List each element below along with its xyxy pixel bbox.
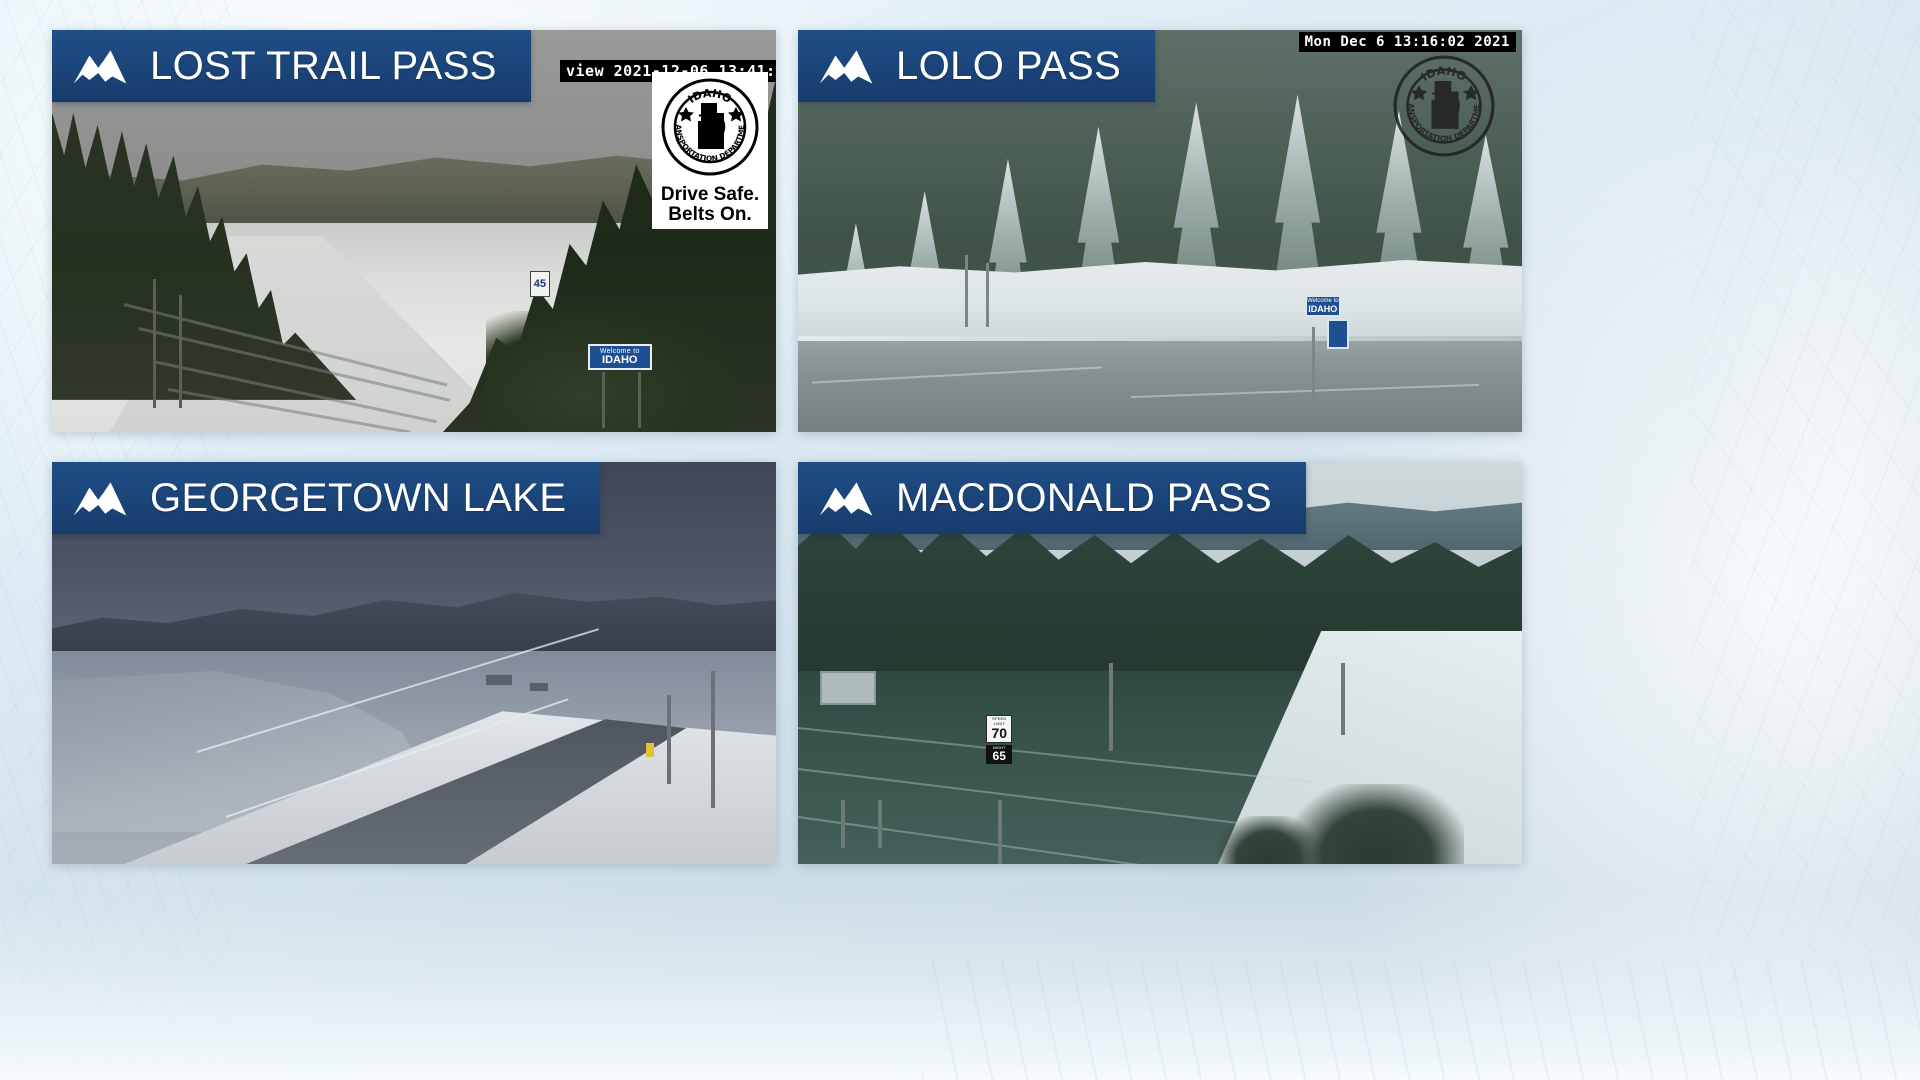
roadside-brush xyxy=(486,311,732,432)
welcome-to-idaho-sign: Welcome to IDAHO xyxy=(588,344,652,370)
speed-limit-value: 45 xyxy=(531,272,549,296)
mountain-icon xyxy=(818,46,874,86)
welcome-sign-line2: IDAHO xyxy=(590,355,650,366)
camera-tile-lolo-pass[interactable]: Welcome to IDAHO Mon Dec 6 13:16:02 2021… xyxy=(798,30,1522,432)
night-speed-panel: NIGHT 65 xyxy=(986,745,1012,764)
welcome-sign-line2: IDAHO xyxy=(1307,305,1339,314)
camera-tile-georgetown-lake[interactable]: GEORGETOWN LAKE xyxy=(52,462,776,864)
roadside-post xyxy=(153,279,156,408)
itd-logo-disc: IDAHO TRANSPORTATION DEPARTMENT D xyxy=(652,72,768,184)
highway-surface xyxy=(798,336,1522,432)
utility-pole xyxy=(667,695,671,783)
roadside-delineator xyxy=(646,743,654,757)
daytime-speed-panel: SPEED LIMIT 70 xyxy=(986,715,1012,743)
speed-limit-sign: SPEED LIMIT 70 NIGHT 65 xyxy=(986,715,1012,764)
welcome-to-idaho-sign: Welcome to IDAHO xyxy=(1305,295,1341,317)
night-speed-value: 65 xyxy=(986,750,1012,762)
camera-title: MACDONALD PASS xyxy=(896,476,1272,521)
roadside-post xyxy=(1341,663,1345,735)
mountain-icon xyxy=(72,478,128,518)
mountain-icon xyxy=(818,478,874,518)
camera-title: LOLO PASS xyxy=(896,44,1121,89)
itd-tagline: Drive Safe. Belts On. xyxy=(652,184,768,229)
svg-text:IDAHO: IDAHO xyxy=(1418,64,1469,84)
itd-tagline-line2: Belts On. xyxy=(652,205,768,225)
itd-tagline-line1: Drive Safe. xyxy=(652,185,768,205)
roadside-post xyxy=(986,263,989,327)
camera-banner-lost-trail-pass[interactable]: LOST TRAIL PASS xyxy=(52,30,531,102)
camera-banner-macdonald-pass[interactable]: MACDONALD PASS xyxy=(798,462,1306,534)
idaho-transportation-department-logo: IDAHO TRANSPORTATION DEPARTMENT D xyxy=(1392,54,1500,163)
itd-seal-icon: IDAHO TRANSPORTATION DEPARTMENT D xyxy=(1392,54,1496,158)
speed-limit-value: 70 xyxy=(987,726,1011,740)
roadside-post xyxy=(179,295,182,408)
camera-tile-lost-trail-pass[interactable]: 45 Welcome to IDAHO view 2021-12-06 13:4… xyxy=(52,30,776,432)
camera-banner-lolo-pass[interactable]: LOLO PASS xyxy=(798,30,1155,102)
svg-text:D: D xyxy=(1431,86,1462,127)
sign-post xyxy=(1312,327,1315,399)
idaho-transportation-department-logo: IDAHO TRANSPORTATION DEPARTMENT D Drive … xyxy=(652,72,768,229)
lakeside-building xyxy=(530,683,548,691)
roadside-marker-sign xyxy=(1327,319,1349,349)
sign-post xyxy=(841,800,845,848)
speed-limit-sign: 45 xyxy=(530,271,550,297)
sign-post xyxy=(638,372,641,428)
sign-post xyxy=(998,800,1002,864)
roadside-post xyxy=(1109,663,1113,751)
roadside-post xyxy=(965,255,968,327)
camera-timestamp-overlay: Mon Dec 6 13:16:02 2021 xyxy=(1299,32,1516,52)
camera-title: GEORGETOWN LAKE xyxy=(150,476,566,521)
utility-pole xyxy=(711,671,715,808)
sign-post xyxy=(602,372,605,428)
blank-roadside-billboard xyxy=(820,671,876,705)
camera-grid: 45 Welcome to IDAHO view 2021-12-06 13:4… xyxy=(52,30,1874,1042)
camera-title: LOST TRAIL PASS xyxy=(150,44,497,89)
webcam-wall: 45 Welcome to IDAHO view 2021-12-06 13:4… xyxy=(0,0,1920,1080)
camera-banner-georgetown-lake[interactable]: GEORGETOWN LAKE xyxy=(52,462,600,534)
mountain-icon xyxy=(72,46,128,86)
svg-text:D: D xyxy=(697,108,726,148)
camera-tile-macdonald-pass[interactable]: SPEED LIMIT 70 NIGHT 65 MACDONALD PASS xyxy=(798,462,1522,864)
snowy-shrub xyxy=(1218,816,1319,864)
lakeside-building xyxy=(486,675,512,685)
sign-post xyxy=(878,800,882,848)
itd-seal-icon: IDAHO TRANSPORTATION DEPARTMENT D xyxy=(656,77,764,177)
